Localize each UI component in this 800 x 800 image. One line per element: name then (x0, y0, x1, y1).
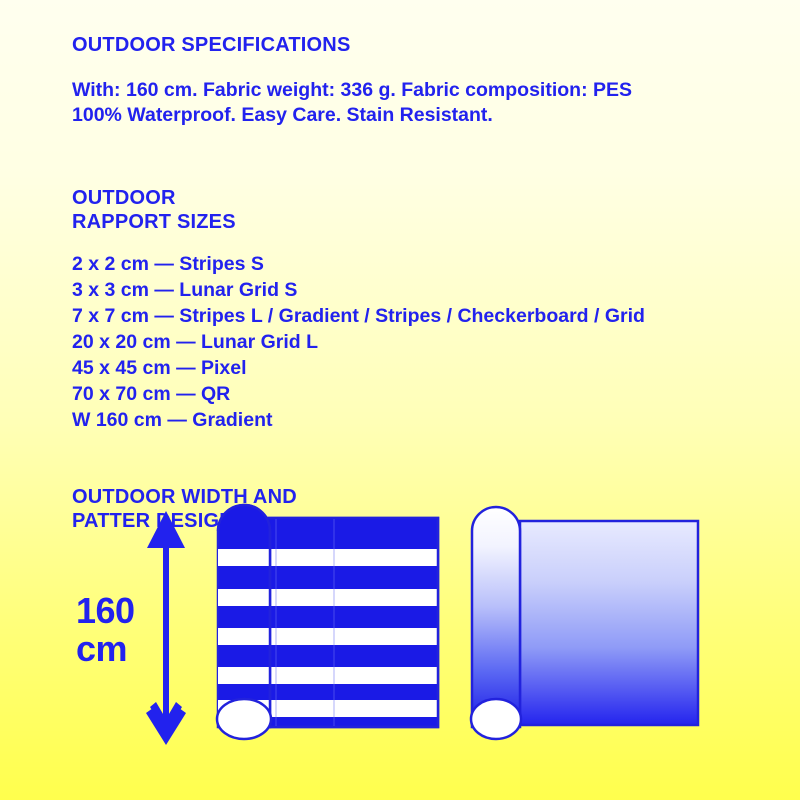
list-item: 70 x 70 cm — QR (72, 381, 772, 407)
striped-roll-tube (218, 505, 270, 727)
gradient-sheet-body (520, 521, 698, 725)
gradient-fabric-roll (471, 507, 698, 739)
specifications-line-1: With: 160 cm. Fabric weight: 336 g. Fabr… (72, 78, 772, 104)
gradient-roll-end-face (471, 699, 521, 739)
measurement-value: 160 (76, 592, 135, 630)
outdoor-specification-sheet: OUTDOOR SPECIFICATIONS With: 160 cm. Fab… (0, 0, 800, 800)
striped-roll-tube-outline (218, 505, 270, 727)
list-item: 3 x 3 cm — Lunar Grid S (72, 277, 772, 303)
striped-sheet-body (253, 518, 438, 727)
striped-roll-tube-stripes (216, 549, 272, 717)
specifications-line-2: 100% Waterproof. Easy Care. Stain Resist… (72, 103, 772, 129)
list-item: 7 x 7 cm — Stripes L / Gradient / Stripe… (72, 303, 772, 329)
striped-fabric-roll (216, 505, 438, 739)
width-design-heading-line-1: OUTDOOR WIDTH AND (72, 486, 772, 510)
gradient-roll-tube (472, 507, 520, 727)
striped-roll-end-face (217, 699, 271, 739)
specifications-body: With: 160 cm. Fabric weight: 336 g. Fabr… (72, 78, 772, 129)
rapport-heading-line-2: RAPPORT SIZES (72, 211, 772, 235)
striped-sheet-outline (253, 518, 438, 727)
list-item: 2 x 2 cm — Stripes S (72, 251, 772, 277)
measurement-unit: cm (76, 630, 135, 668)
width-design-heading-line-2: PATTER DESIGN (72, 510, 772, 534)
rapport-heading-line-1: OUTDOOR (72, 187, 772, 211)
arrow-head-down-chevron-inner-icon (150, 702, 182, 733)
measurement-label: 160 cm (76, 592, 135, 668)
list-item: 45 x 45 cm — Pixel (72, 355, 772, 381)
text-content-column: OUTDOOR SPECIFICATIONS With: 160 cm. Fab… (72, 34, 772, 534)
specifications-heading: OUTDOOR SPECIFICATIONS (72, 34, 772, 58)
rapport-sizes-list: 2 x 2 cm — Stripes S 3 x 3 cm — Lunar Gr… (72, 251, 772, 433)
list-item: 20 x 20 cm — Lunar Grid L (72, 329, 772, 355)
list-item: W 160 cm — Gradient (72, 407, 772, 433)
arrow-head-down-chevron-outer-icon (146, 708, 186, 745)
arrow-shaft (163, 530, 169, 722)
striped-sheet-stripes (253, 549, 438, 717)
striped-sheet-seams (276, 519, 334, 726)
double-headed-height-arrow (146, 511, 186, 745)
